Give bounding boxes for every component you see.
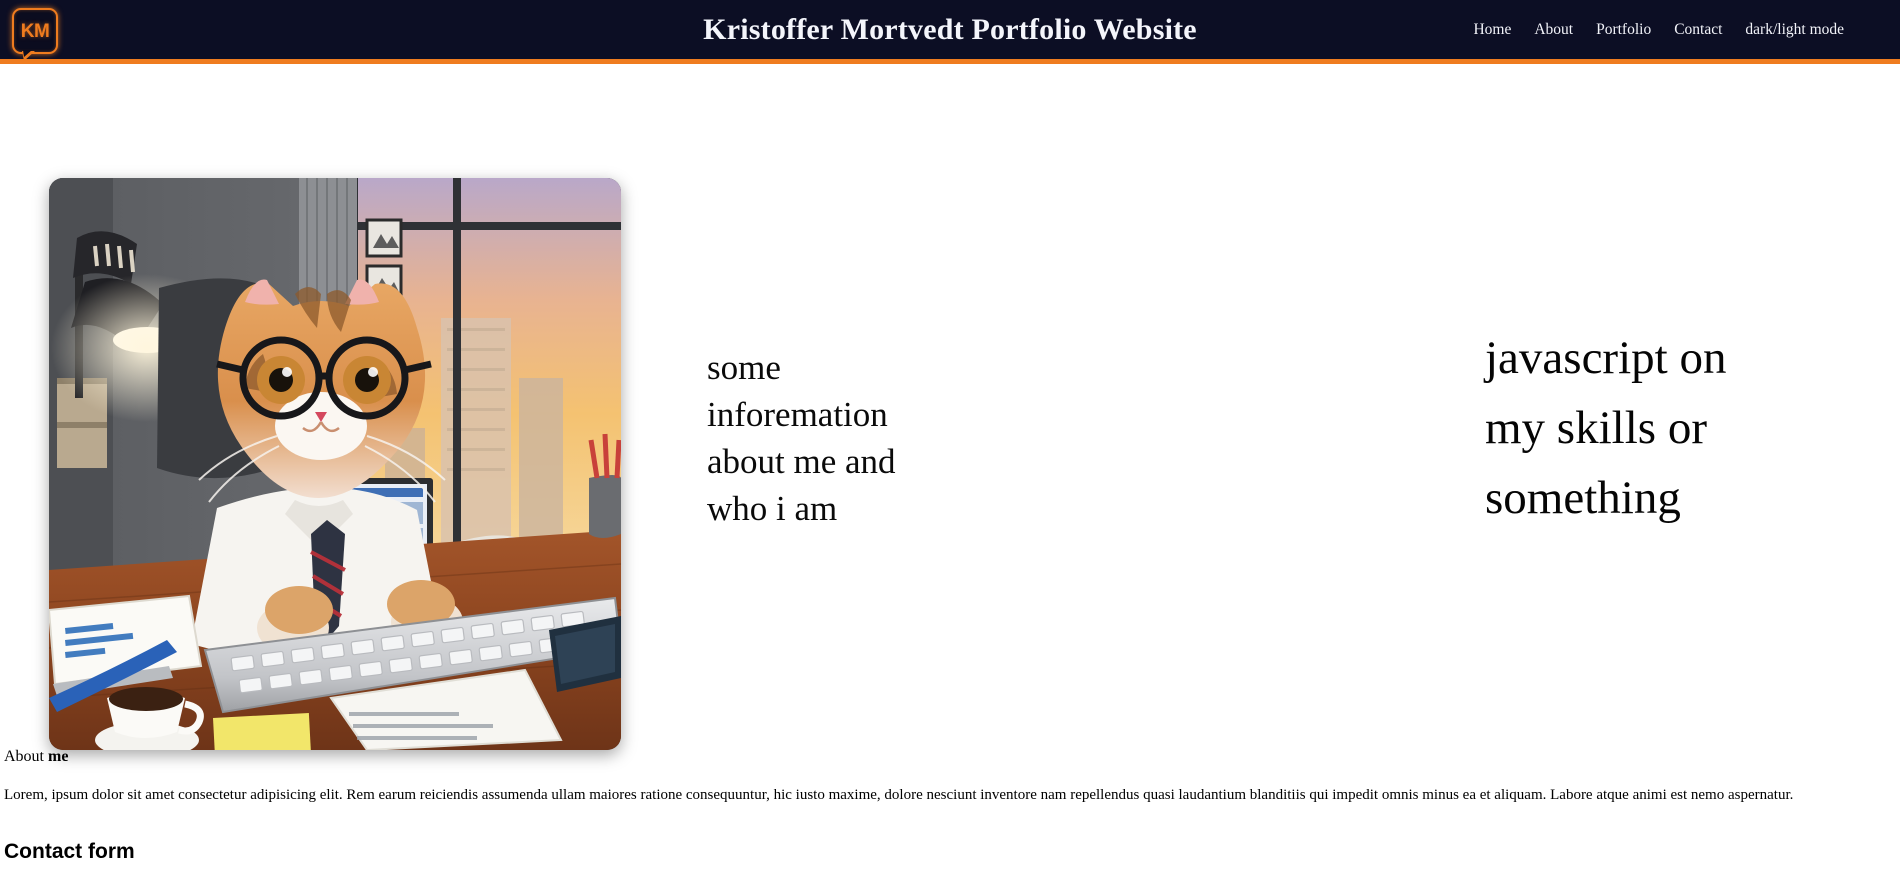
main-navigation: Home About Portfolio Contact dark/light … (1473, 21, 1844, 39)
about-heading-prefix: About (4, 748, 48, 765)
nav-item-dark-light-mode[interactable]: dark/light mode (1745, 21, 1844, 39)
nav-item-home[interactable]: Home (1473, 21, 1511, 39)
about-section-paragraph: Lorem, ipsum dolor sit amet consectetur … (4, 786, 1896, 805)
skills-blurb-text: javascript on my skills or something (1485, 323, 1785, 533)
nav-item-portfolio[interactable]: Portfolio (1596, 21, 1651, 39)
hero-section: some inforemation about me and who i am … (0, 64, 1900, 734)
site-header: KM Kristoffer Mortvedt Portfolio Website… (0, 0, 1900, 64)
profile-photo (49, 178, 621, 750)
about-section-heading: About me (4, 747, 1896, 767)
about-heading-emphasis: me (48, 748, 68, 765)
about-blurb-text: some inforemation about me and who i am (707, 344, 937, 532)
nav-item-contact[interactable]: Contact (1674, 21, 1722, 39)
nav-item-about[interactable]: About (1534, 21, 1573, 39)
profile-photo-illustration (49, 178, 621, 750)
contact-form-heading: Contact form (4, 840, 135, 864)
about-section: About me Lorem, ipsum dolor sit amet con… (0, 747, 1900, 805)
